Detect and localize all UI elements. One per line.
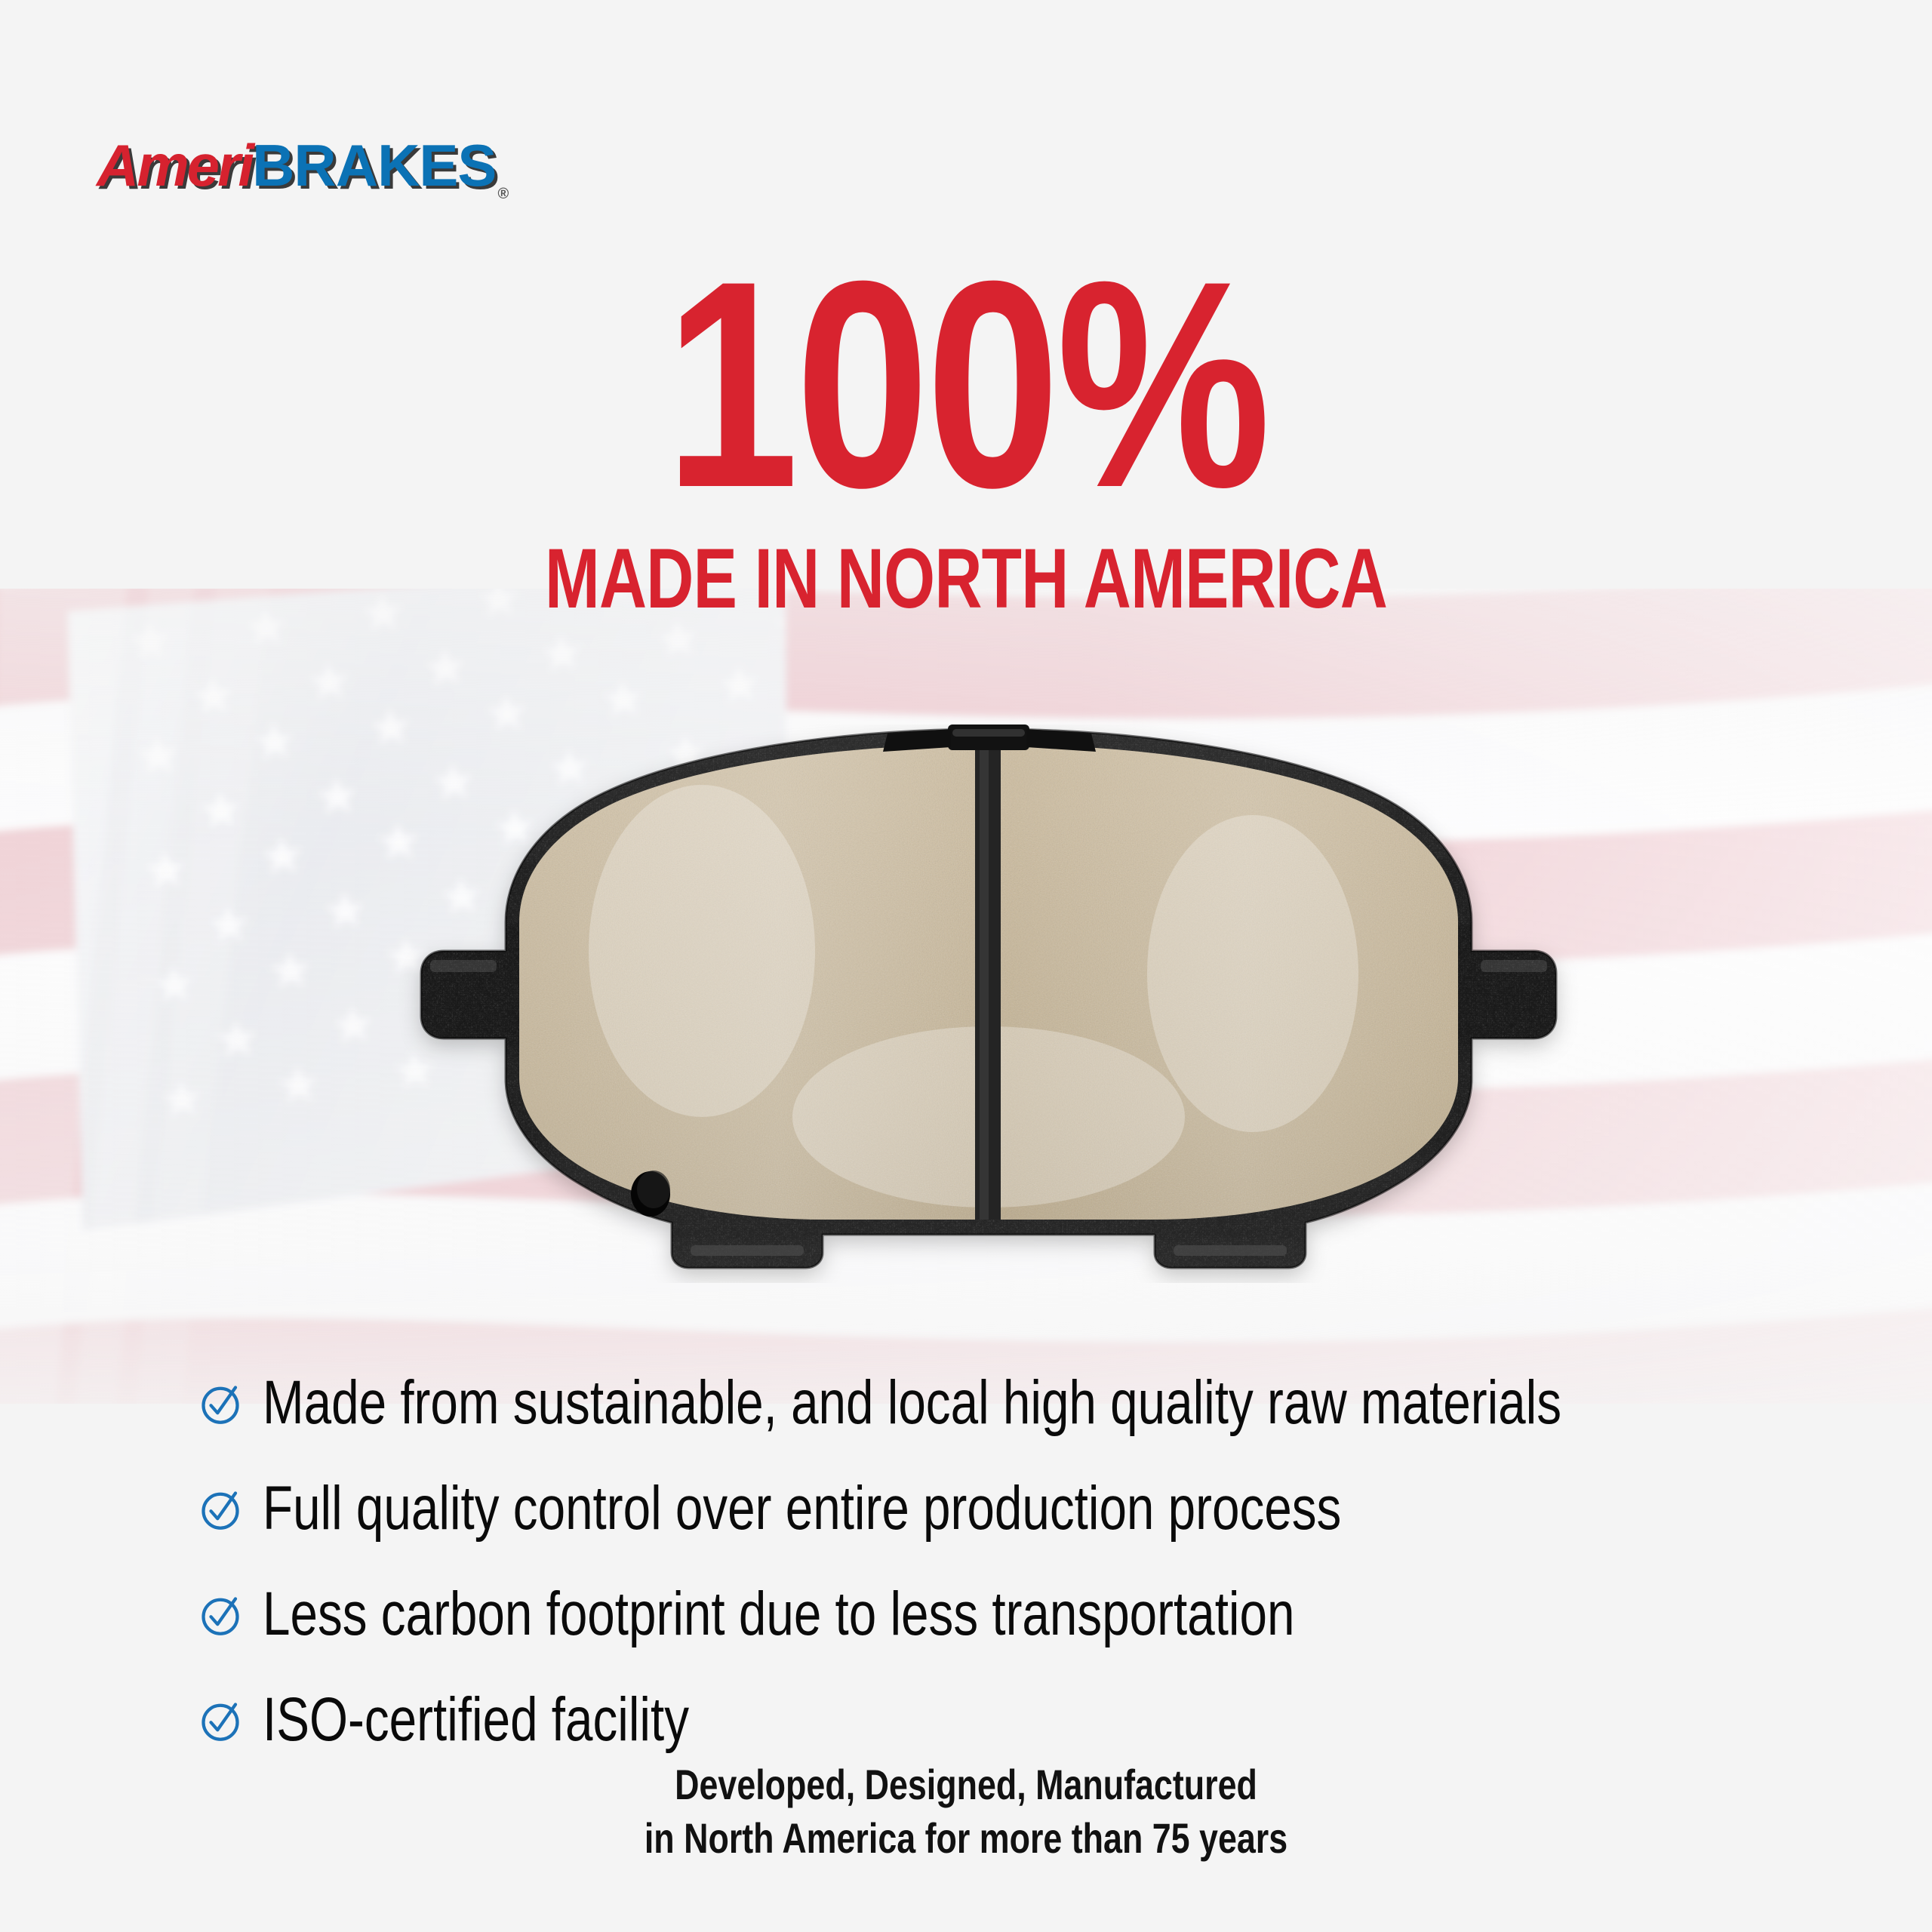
brand-logo: AmeriBRAKES® [97, 136, 508, 202]
check-circle-icon [198, 1382, 243, 1427]
feature-item: ISO-certified facility [198, 1675, 1783, 1764]
brake-pad-bottom-tabs [691, 1245, 1287, 1256]
feature-label: ISO-certified facility [263, 1689, 689, 1751]
headline-block: 100% MADE IN NORTH AMERICA [0, 249, 1932, 621]
check-circle-icon [198, 1699, 243, 1744]
brake-pad-product-image [279, 724, 1698, 1283]
feature-label: Made from sustainable, and local high qu… [263, 1372, 1561, 1434]
brand-logo-ameri: Ameri [97, 132, 252, 198]
registered-trademark-icon: ® [497, 186, 508, 202]
feature-label: Less carbon footprint due to less transp… [263, 1583, 1294, 1645]
check-circle-icon-glyph [198, 1487, 243, 1533]
check-circle-icon-glyph [198, 1382, 243, 1427]
check-circle-icon-glyph [198, 1593, 243, 1638]
check-circle-icon-glyph [198, 1699, 243, 1744]
feature-label: Full quality control over entire product… [263, 1478, 1341, 1540]
footer-block: Developed, Designed, Manufactured in Nor… [0, 1758, 1932, 1865]
brake-pad-graphic [279, 724, 1698, 1283]
feature-list: Made from sustainable, and local high qu… [198, 1358, 1783, 1781]
brand-logo-brakes: BRAKES [252, 132, 496, 198]
feature-item: Full quality control over entire product… [198, 1464, 1783, 1553]
feature-item: Made from sustainable, and local high qu… [198, 1358, 1783, 1447]
check-circle-icon [198, 1593, 243, 1638]
headline-subtitle: MADE IN NORTH AMERICA [213, 537, 1720, 621]
footer-line-1: Developed, Designed, Manufactured [193, 1758, 1739, 1812]
feature-item: Less carbon footprint due to less transp… [198, 1570, 1783, 1659]
check-circle-icon [198, 1487, 243, 1533]
footer-line-2: in North America for more than 75 years [193, 1812, 1739, 1866]
headline-percent: 100% [174, 249, 1758, 520]
